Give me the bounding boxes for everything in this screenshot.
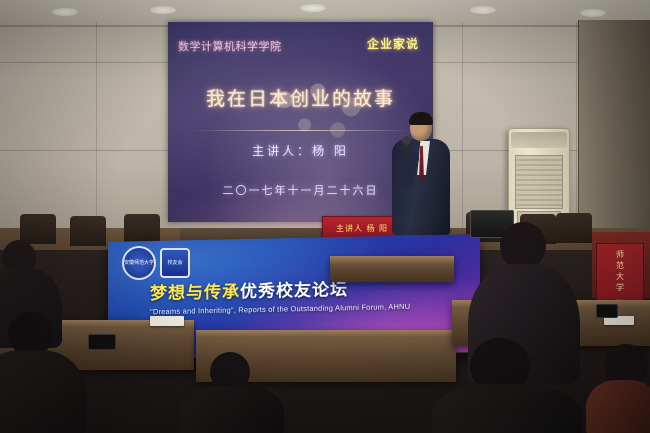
chair-back: [20, 214, 56, 244]
front-desk-top: [330, 256, 454, 264]
wall-joint: [96, 22, 97, 242]
slide-series-badge: 企业家说: [367, 35, 419, 52]
wall-banner-line1: 师范大学: [614, 249, 626, 293]
chair-back: [556, 213, 592, 243]
audience-body: [0, 350, 86, 433]
ceiling-light: [580, 9, 606, 17]
alumni-association-seal-icon: 校友会: [160, 248, 190, 278]
microphone-head: [402, 136, 411, 145]
photo-scene: 数学计算机科学学院 企业家说 我在日本创业的故事 主讲人：杨 阳 二〇一七年十一…: [0, 0, 650, 433]
mobile-phone: [596, 304, 618, 318]
audience-body: [432, 384, 582, 433]
air-conditioner-top: [511, 132, 567, 148]
ceiling-light: [300, 4, 326, 12]
mobile-phone: [88, 334, 116, 350]
air-conditioner-grill: [515, 155, 563, 209]
slide-divider: [190, 130, 411, 131]
university-seal-icon: 安徽师范大学: [122, 246, 156, 280]
wall-joint: [462, 22, 463, 242]
ceiling-light: [150, 6, 176, 14]
handout-paper: [150, 316, 184, 326]
audience-head: [500, 222, 546, 270]
university-seal-text: 安徽师范大学: [124, 260, 154, 266]
front-desk: [330, 256, 454, 282]
speaker-hair: [409, 112, 433, 125]
ceiling-light: [52, 8, 78, 16]
chair-back: [124, 214, 160, 244]
ceiling-light: [470, 6, 496, 14]
event-banner-title-quoted: 梦想与传承: [150, 282, 240, 304]
slide-title: 我在日本创业的故事: [168, 84, 433, 111]
chair-back: [70, 216, 106, 246]
side-doorway: [578, 20, 650, 232]
front-desk-top: [196, 330, 456, 338]
slide-org-line: 数学计算机科学学院: [178, 38, 282, 54]
alumni-association-seal-text: 校友会: [162, 260, 188, 266]
wall-joint: [576, 22, 577, 242]
event-banner-title-rest: 优秀校友论坛: [240, 280, 348, 302]
audience-body: [586, 380, 650, 433]
audience-body: [180, 386, 284, 433]
podium-name-sign-text: 主讲人 杨 阳: [336, 223, 388, 234]
